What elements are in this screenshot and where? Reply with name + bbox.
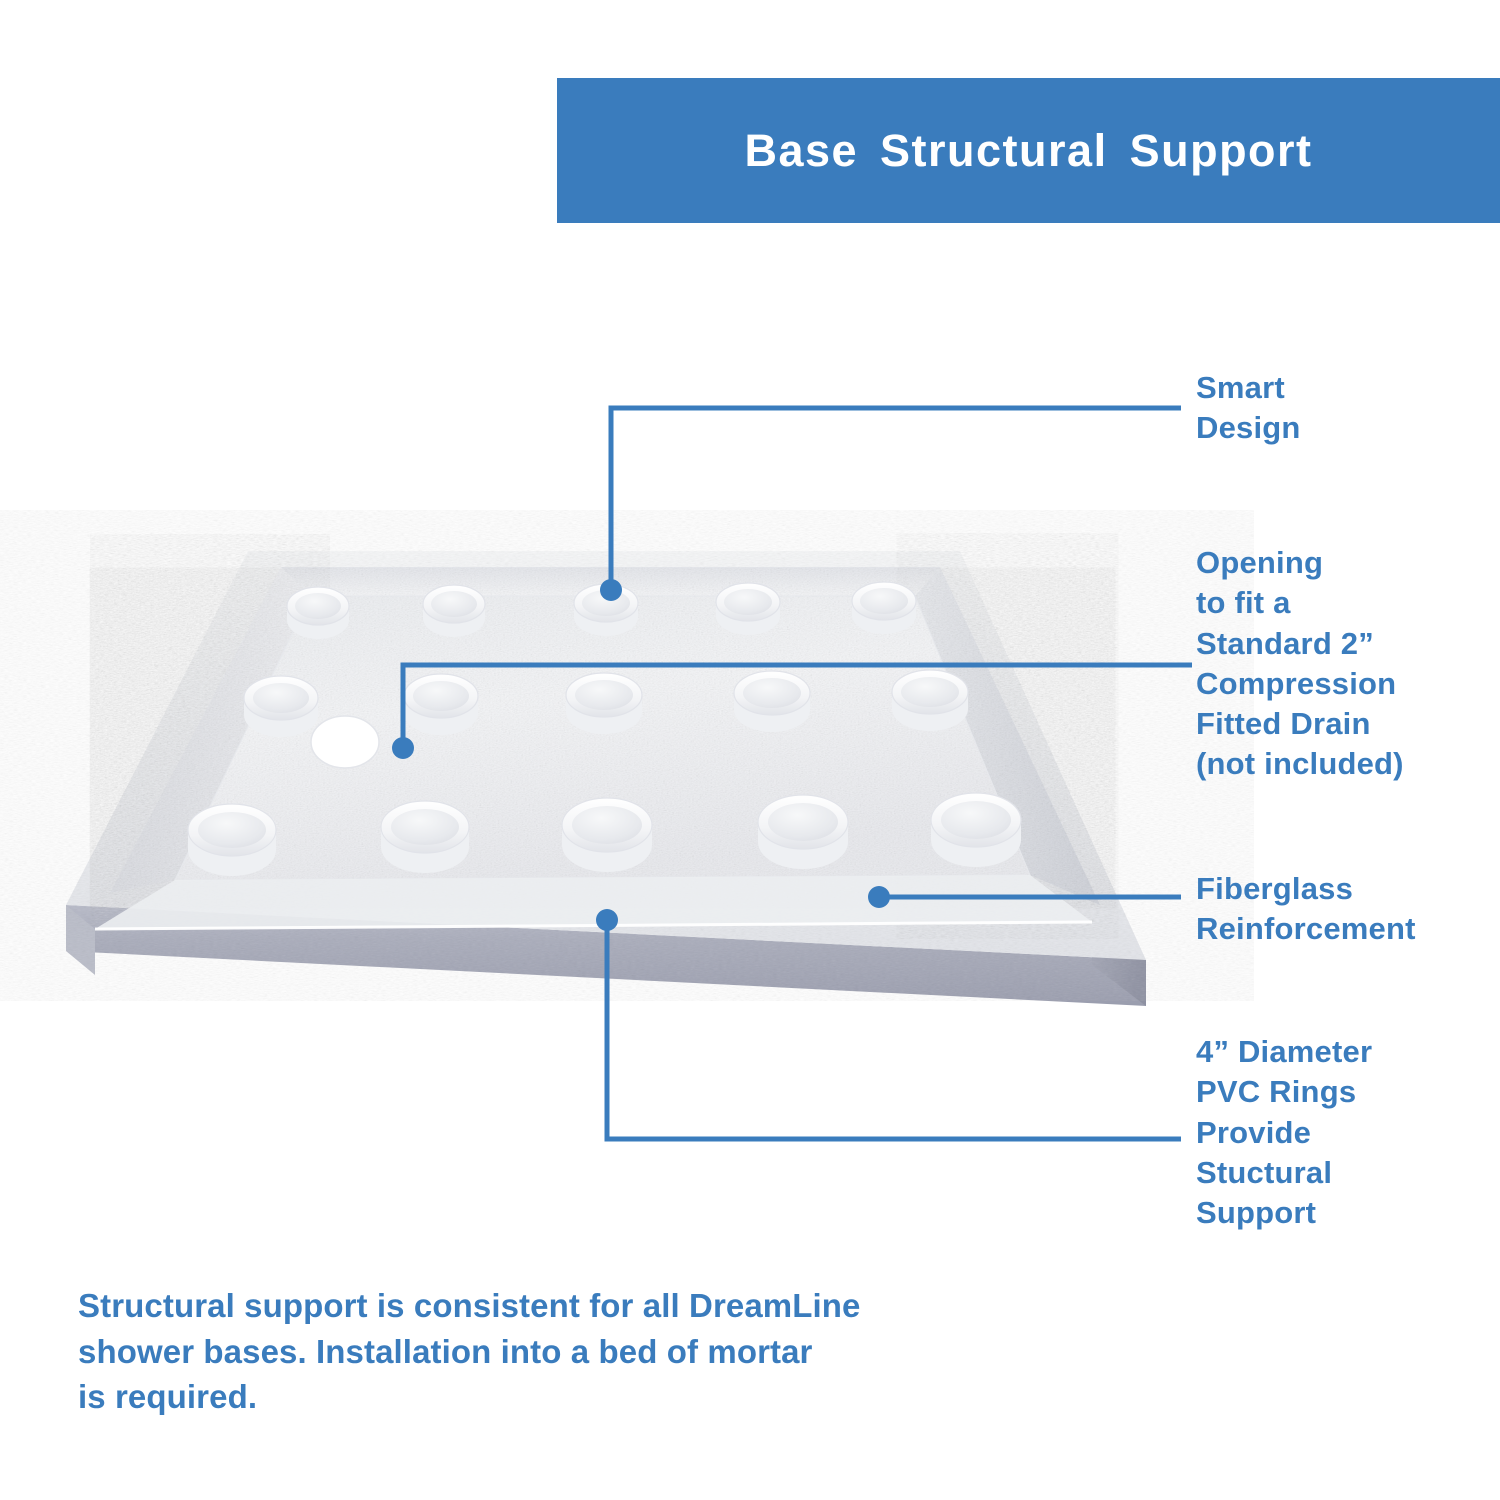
header-banner: Base Structural Support bbox=[557, 78, 1500, 223]
page-title: Base Structural Support bbox=[744, 125, 1312, 177]
drain-opening bbox=[311, 716, 379, 768]
callout-label-fiberglass-reinforcement: Fiberglass Reinforcement bbox=[1196, 869, 1496, 950]
callout-label-smart-design: Smart Design bbox=[1196, 368, 1496, 449]
infographic-canvas: Base Structural Support Smart Design Ope… bbox=[0, 0, 1500, 1500]
footer-note: Structural support is consistent for all… bbox=[78, 1283, 1028, 1420]
callout-label-drain-opening: Opening to fit a Standard 2” Compression… bbox=[1196, 543, 1496, 785]
callout-label-pvc-rings: 4” Diameter PVC Rings Provide Stuctural … bbox=[1196, 1032, 1496, 1233]
